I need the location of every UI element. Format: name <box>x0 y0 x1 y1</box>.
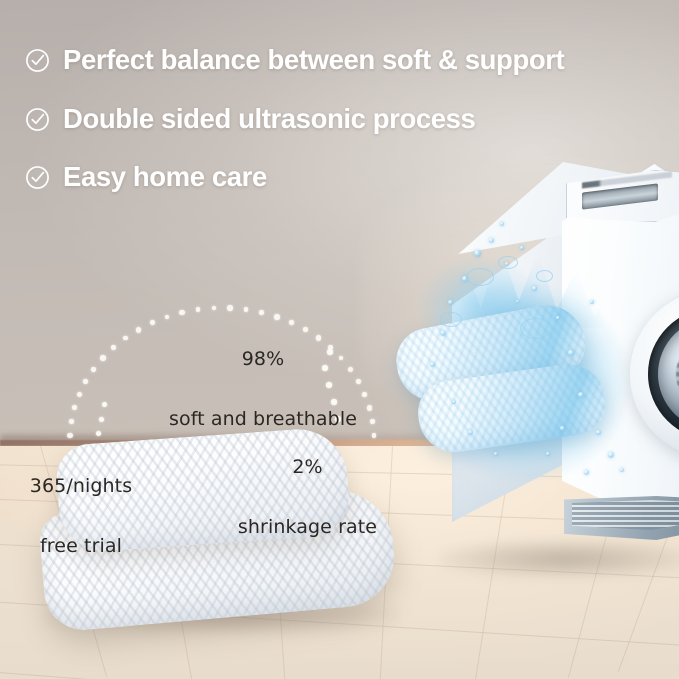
check-circle-icon <box>24 164 51 191</box>
feature-bullet-1-label: Perfect balance between soft & support <box>63 46 564 75</box>
feature-bullet-3: Easy home care <box>0 163 267 192</box>
feature-bullet-2: Double sided ultrasonic process <box>0 105 475 134</box>
annotation-free-trial-caption: free trial <box>16 535 146 557</box>
feature-bullet-3-label: Easy home care <box>63 163 267 192</box>
check-circle-icon <box>24 47 51 74</box>
feature-bullet-2-label: Double sided ultrasonic process <box>63 105 475 134</box>
annotation-free-trial: 365/nights free trial <box>16 437 146 595</box>
annotation-shrinkage-rate-value: 2% <box>215 456 400 478</box>
check-circle-icon <box>24 106 51 133</box>
annotation-soft-breathable-value: 98% <box>148 348 378 370</box>
annotation-free-trial-value: 365/nights <box>16 475 146 497</box>
annotation-shrinkage-rate: 2% shrinkage rate <box>215 418 400 576</box>
feature-bullet-1: Perfect balance between soft & support <box>0 46 564 75</box>
product-image-scene: Perfect balance between soft & support D… <box>0 0 679 679</box>
annotation-shrinkage-rate-caption: shrinkage rate <box>215 516 400 538</box>
